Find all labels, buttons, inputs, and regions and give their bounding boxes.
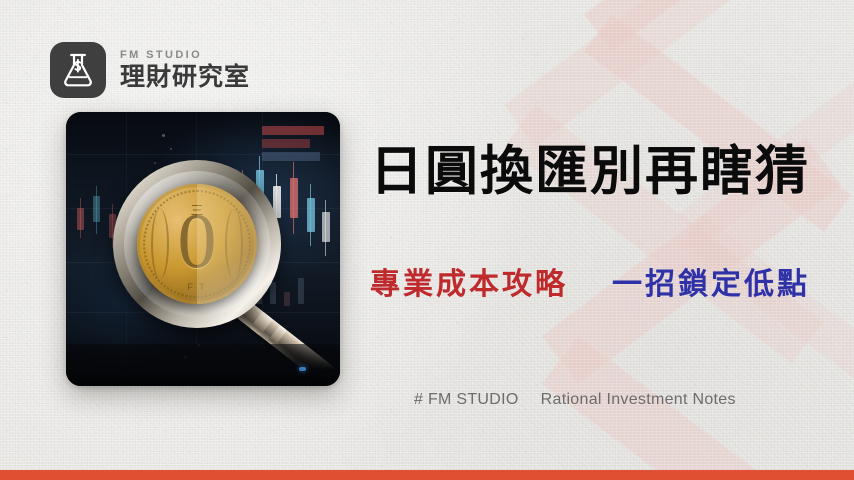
brand-text: FM STUDIO 理財研究室 xyxy=(120,49,250,92)
monitor-led xyxy=(299,367,306,371)
magnifier-ring: 三 0 F T xyxy=(113,160,281,328)
subtitle-row: 專業成本攻略 一招鎖定低點 xyxy=(370,259,810,303)
brand-name: 理財研究室 xyxy=(120,63,250,92)
subtitle-left: 專業成本攻略 xyxy=(370,259,568,303)
footer-note: # FM STUDIO Rational Investment Notes xyxy=(414,391,736,409)
hero-photo-card: 三 0 F T xyxy=(66,112,340,386)
hero-photo: 三 0 F T xyxy=(66,112,340,386)
bottom-accent-bar xyxy=(0,470,854,480)
footer-hashtag: # FM STUDIO xyxy=(414,391,519,409)
brand-kicker: FM STUDIO xyxy=(120,49,250,61)
footer-tagline: Rational Investment Notes xyxy=(541,391,736,409)
subtitle-right: 一招鎖定低點 xyxy=(612,259,810,303)
brand-lockup: FM STUDIO 理財研究室 xyxy=(50,42,250,98)
page-title: 日圓換匯別再瞎猜 xyxy=(370,143,810,200)
magnifier-lens: 三 0 F T xyxy=(124,171,270,317)
monitor-bezel xyxy=(66,344,340,386)
flask-dollar-icon xyxy=(50,42,106,98)
